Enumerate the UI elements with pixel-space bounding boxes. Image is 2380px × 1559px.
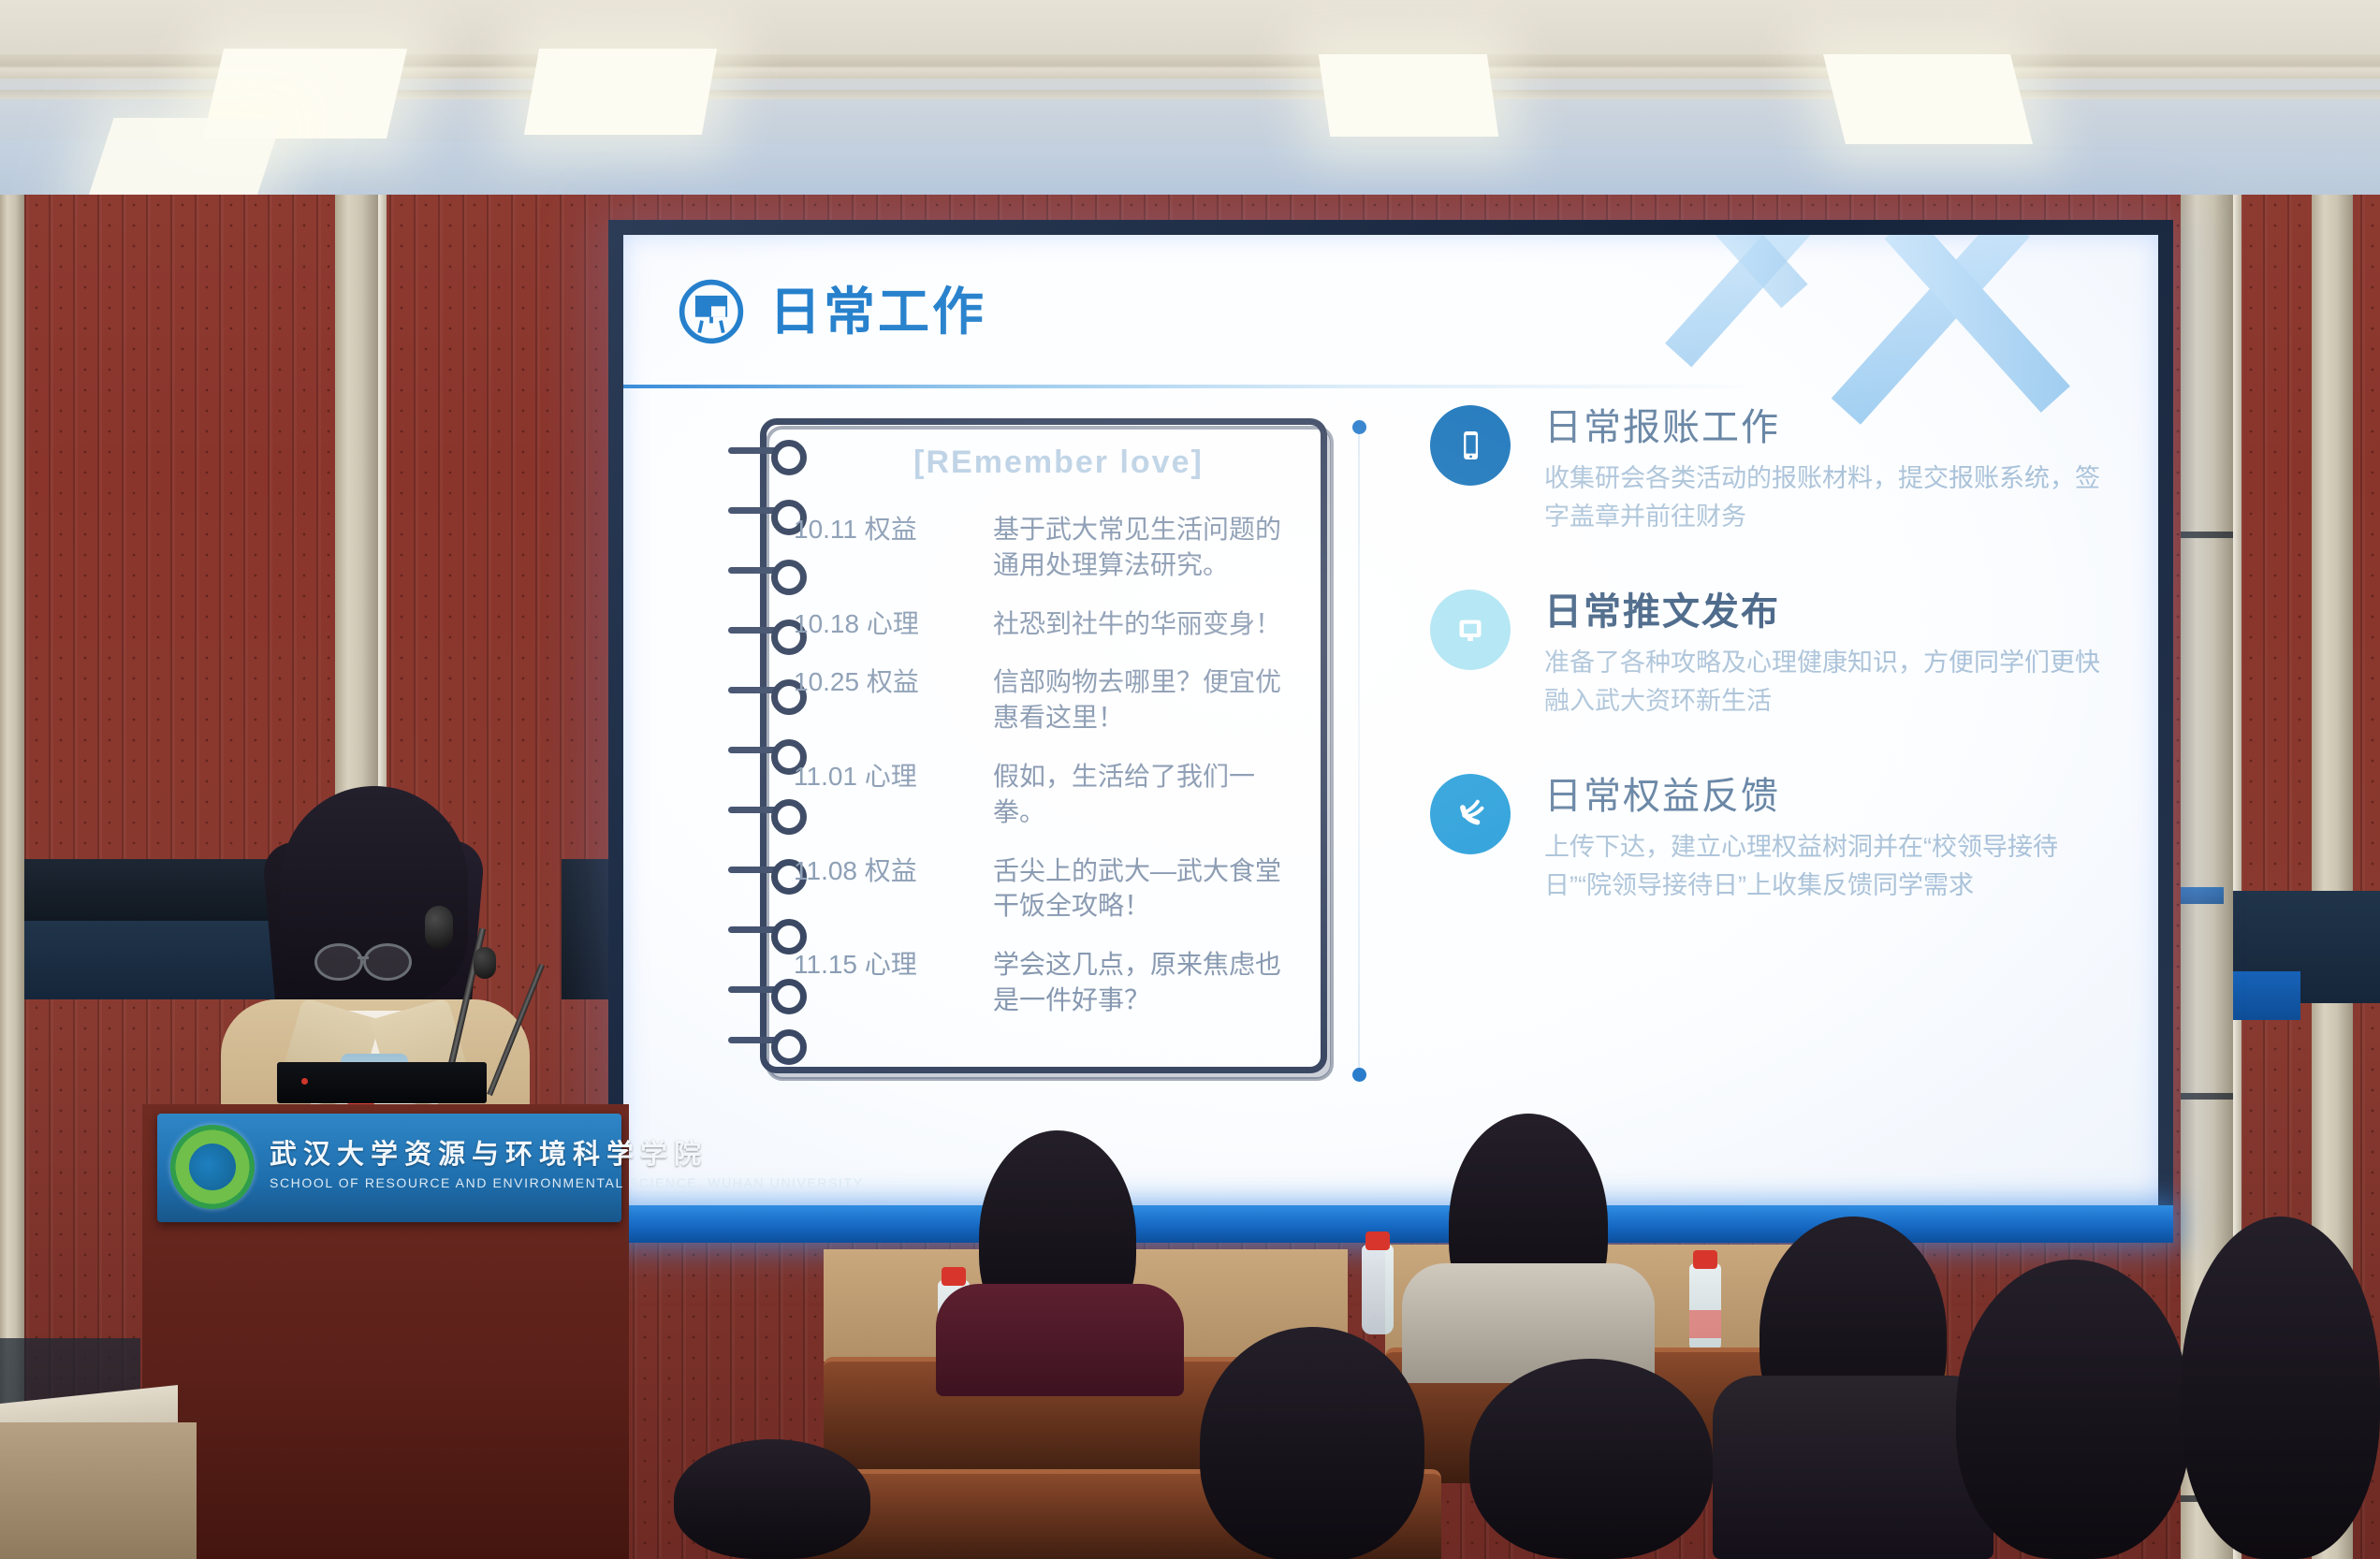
audience-member <box>1469 1359 1713 1559</box>
projection-screen-frame: 日常工作 [REmember love] <box>608 220 2173 1232</box>
audience-member-body <box>1713 1376 1993 1559</box>
eyeglasses-icon <box>314 943 363 981</box>
podium-org-name-en: SCHOOL OF RESOURCE AND ENVIRONMENTAL SCI… <box>270 1175 864 1190</box>
task-description: 准备了各种攻略及心理健康知识，方便同学们更快融入武大资环新生活 <box>1544 644 2121 720</box>
notepad-ring <box>728 798 797 823</box>
notepad-entry-text: 学会这几点，原来焦虑也是一件好事？ <box>993 947 1299 1018</box>
task-description: 收集研会各类活动的报账材料，提交报账系统，签字盖章并前往财务 <box>1544 459 2121 535</box>
notepad-ring <box>728 439 797 463</box>
laptop-indicator-light <box>301 1078 308 1085</box>
notepad-entry: 10.18 心理 社恐到社牛的华丽变身！ <box>794 606 1299 642</box>
notepad-title: [REmember love] <box>812 444 1305 481</box>
notepad-entry-date: 10.25 权益 <box>794 664 976 736</box>
blue-wall-strip <box>2181 887 2224 904</box>
lecture-hall-photo: 日常工作 [REmember love] <box>0 0 2380 1559</box>
task-description: 上传下达，建立心理权益树洞并在“校领导接待日”“院领导接待日”上收集反馈同学需求 <box>1544 828 2121 904</box>
notepad-ring <box>728 918 797 942</box>
notepad-graphic: [REmember love] 10.11 权益 基于武大常见生活问题的通用处理… <box>728 418 1327 1073</box>
water-bottle <box>1362 1245 1394 1334</box>
notepad-entry-date: 11.15 心理 <box>794 947 976 1018</box>
task-title: 日常推文发布 <box>1544 591 2121 633</box>
notepad-ring <box>728 858 797 882</box>
audience-member-body <box>936 1284 1184 1396</box>
task-title: 日常报账工作 <box>1544 407 2121 448</box>
water-bottle <box>1689 1263 1721 1353</box>
notepad-entry-date: 10.18 心理 <box>794 606 976 642</box>
audience-member <box>1956 1260 2190 1559</box>
notepad-entry: 10.25 权益 信部购物去哪里？便宜优惠看这里！ <box>794 664 1299 736</box>
notepad-ring <box>728 499 797 523</box>
vertical-connector-line <box>1358 428 1360 1073</box>
notepad-ring <box>728 559 797 583</box>
audience-member <box>1200 1327 1424 1559</box>
notepad-entry-text: 基于武大常见生活问题的通用处理算法研究。 <box>993 512 1299 583</box>
laptop-screen <box>277 1062 487 1103</box>
presentation-slide: 日常工作 [REmember love] <box>623 235 2158 1217</box>
bottle-cap <box>1693 1250 1717 1269</box>
telephone-handset-icon <box>1430 774 1511 854</box>
ceiling-light <box>1319 54 1498 137</box>
front-desk-panel <box>0 1422 197 1559</box>
notepad-ring <box>728 619 797 643</box>
notepad-ring <box>728 738 797 763</box>
podium-nameplate: 武汉大学资源与环境科学学院 SCHOOL OF RESOURCE AND ENV… <box>157 1114 621 1222</box>
pillar-band <box>2181 532 2233 538</box>
notepad-entry-text: 舌尖上的武大—武大食堂干饭全攻略！ <box>993 853 1299 925</box>
notepad-entry: 11.15 心理 学会这几点，原来焦虑也是一件好事？ <box>794 947 1299 1018</box>
bottle-cap <box>942 1267 966 1286</box>
eyeglasses-icon <box>363 943 412 981</box>
task-title: 日常权益反馈 <box>1544 776 2121 817</box>
task-item: 日常权益反馈 上传下达，建立心理权益树洞并在“校领导接待日”“院领导接待日”上收… <box>1430 774 2121 904</box>
ceiling-light <box>524 49 717 135</box>
pillar-band <box>2181 1093 2233 1100</box>
university-logo <box>170 1125 255 1209</box>
blue-wall-strip <box>2233 971 2300 1020</box>
notepad-entry-date: 10.11 权益 <box>794 512 976 583</box>
audience-member <box>2181 1217 2380 1559</box>
notepad-entry: 11.01 心理 假如，生活给了我们一拳。 <box>794 759 1299 830</box>
notepad-entry-text: 假如，生活给了我们一拳。 <box>993 759 1299 830</box>
microphone-icon <box>474 947 496 979</box>
notepad-entry: 10.11 权益 基于武大常见生活问题的通用处理算法研究。 <box>794 512 1299 583</box>
task-list: 日常报账工作 收集研会各类活动的报账材料，提交报账系统，签字盖章并前往财务 日常… <box>1430 405 2121 958</box>
slide-title-rule <box>623 385 1915 388</box>
ceiling-light <box>1823 54 2033 144</box>
notepad-entry-date: 11.08 权益 <box>794 853 976 925</box>
task-item: 日常推文发布 准备了各种攻略及心理健康知识，方便同学们更快融入武大资环新生活 <box>1430 590 2121 720</box>
slide-title: 日常工作 <box>769 286 986 338</box>
notepad-ring <box>728 978 797 1002</box>
bottle-cap <box>1365 1231 1390 1250</box>
screen-bottom-light-bar <box>608 1205 2173 1243</box>
notepad-entry: 11.08 权益 舌尖上的武大—武大食堂干饭全攻略！ <box>794 853 1299 925</box>
microphone-icon <box>425 906 453 949</box>
connector-dot <box>1352 420 1366 434</box>
podium-org-name-cn: 武汉大学资源与环境科学学院 <box>270 1132 708 1172</box>
bottle-label <box>1689 1310 1721 1338</box>
notepad-entry-text: 信部购物去哪里？便宜优惠看这里！ <box>993 664 1299 736</box>
notepad-entry-list: 10.11 权益 基于武大常见生活问题的通用处理算法研究。 10.18 心理 社… <box>794 512 1299 1042</box>
audience-member <box>674 1439 870 1559</box>
ceiling-light <box>88 118 282 197</box>
notepad-entry-text: 社恐到社牛的华丽变身！ <box>993 606 1299 642</box>
easel-board-icon <box>676 276 747 347</box>
mobile-phone-icon <box>1430 405 1511 486</box>
slide-header: 日常工作 <box>676 276 986 347</box>
notepad-entry-date: 11.01 心理 <box>794 759 976 830</box>
connector-dot <box>1352 1068 1366 1082</box>
task-item: 日常报账工作 收集研会各类活动的报账材料，提交报账系统，签字盖章并前往财务 <box>1430 405 2121 535</box>
notepad-ring <box>728 678 797 703</box>
notepad-ring <box>728 1028 797 1053</box>
monitor-screen-icon <box>1430 590 1511 670</box>
